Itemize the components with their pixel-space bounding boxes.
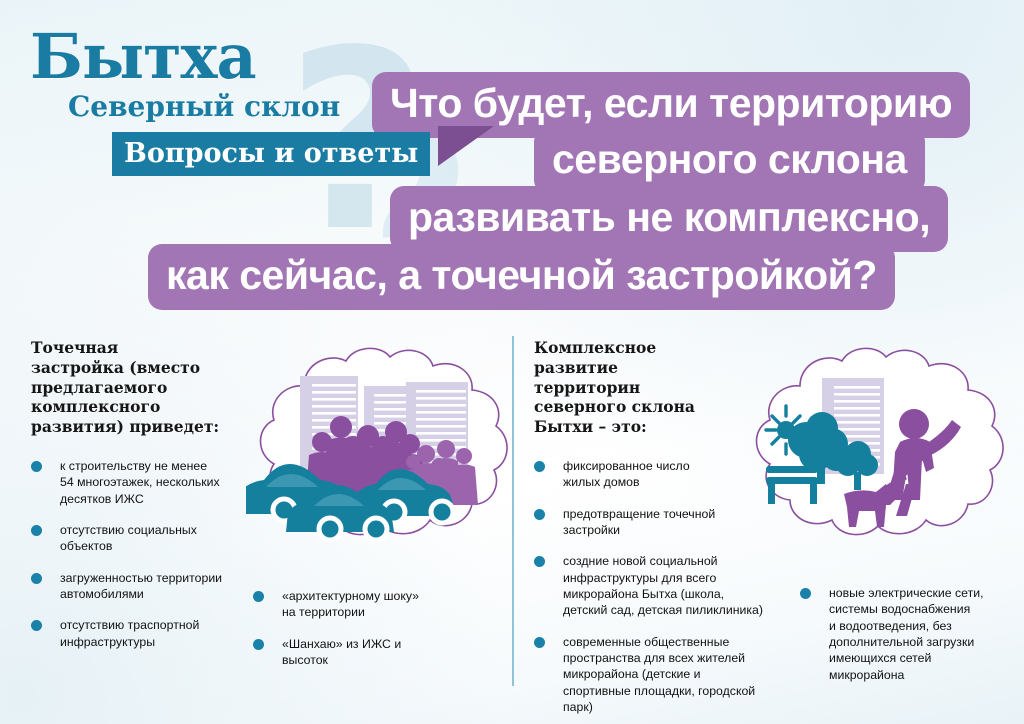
crowded-buildings-cars-illustration (246, 344, 521, 566)
bullet-dot-icon (800, 588, 811, 599)
left-column-secondary-bullet-list: «архитектурному шоку» на территории «Шан… (253, 588, 453, 683)
speech-bubble-tail-icon (438, 126, 494, 166)
list-item: к строительству не менее 54 многоэтажек,… (31, 458, 246, 507)
bullet-dot-icon (31, 525, 42, 536)
bullet-dot-icon (534, 461, 545, 472)
list-item-text: предотвращение точечной застройки (563, 507, 715, 537)
list-item-text: к строительству не менее 54 многоэтажек,… (60, 459, 220, 506)
right-illustration-cloud (748, 344, 1013, 566)
list-item-text: фиксированное число жилых домов (563, 459, 690, 489)
bullet-dot-icon (534, 637, 545, 648)
list-item-text: загруженностью территории автомобилями (60, 571, 222, 601)
list-item: отсутствию социальных объектов (31, 522, 246, 555)
right-column-secondary-bullet-list: новые электрические сети, системы водосн… (800, 585, 1005, 698)
list-item-text: отсутствию социальных объектов (60, 523, 197, 553)
right-column-bullet-list: фиксированное число жилых домов предотвр… (534, 458, 784, 724)
list-item-text: создние новой социальной инфраструктуры … (563, 554, 763, 617)
bullet-dot-icon (253, 639, 264, 650)
bullet-dot-icon (253, 591, 264, 602)
left-column-bullet-list: к строительству не менее 54 многоэтажек,… (31, 458, 246, 665)
brand-subtitle: Северный склон (68, 93, 430, 121)
bullet-dot-icon (534, 509, 545, 520)
column-divider (512, 336, 514, 686)
list-item-text: отсутствию траспортной инфраструктуры (60, 618, 199, 648)
bullet-dot-icon (31, 461, 42, 472)
list-item: отсутствию траспортной инфраструктуры (31, 617, 246, 650)
headline-line-3: развивать не комплексно, (390, 186, 948, 252)
list-item: новые электрические сети, системы водосн… (800, 585, 1005, 683)
list-item: загруженностью территории автомобилями (31, 570, 246, 603)
right-column-heading: Комплексное развитие территорин северног… (534, 338, 749, 437)
left-illustration-cloud (246, 344, 521, 566)
page-title: Бытха (30, 28, 430, 87)
park-person-dog-illustration (748, 344, 1013, 566)
list-item-text: новые электрические сети, системы водосн… (829, 586, 984, 682)
brand-tagline-badge: Вопросы и ответы (112, 132, 430, 176)
list-item: фиксированное число жилых домов (534, 458, 784, 491)
list-item: «архитектурному шоку» на территории (253, 588, 453, 621)
list-item: современные общественные пространства дл… (534, 634, 784, 716)
list-item: предотвращение точечной застройки (534, 506, 784, 539)
headline-line-4: как сейчас, а точечной застройкой? (148, 244, 895, 310)
list-item: создние новой социальной инфраструктуры … (534, 553, 784, 618)
bullet-dot-icon (31, 573, 42, 584)
left-column-heading: Точечная застройка (вместо предлагаемого… (31, 338, 251, 437)
list-item-text: «Шанхаю» из ИЖС и высоток (282, 637, 401, 667)
list-item-text: «архитектурному шоку» на территории (282, 589, 419, 619)
list-item: «Шанхаю» из ИЖС и высоток (253, 636, 453, 669)
headline-line-2: северного склона (534, 128, 925, 194)
bullet-dot-icon (534, 556, 545, 567)
brand-block: Бытха Северный склон Вопросы и ответы (30, 28, 430, 176)
list-item-text: современные общественные пространства дл… (563, 635, 755, 714)
infographic-poster: ? ? Бытха Северный склон Вопросы и ответ… (0, 0, 1024, 724)
bullet-dot-icon (31, 620, 42, 631)
